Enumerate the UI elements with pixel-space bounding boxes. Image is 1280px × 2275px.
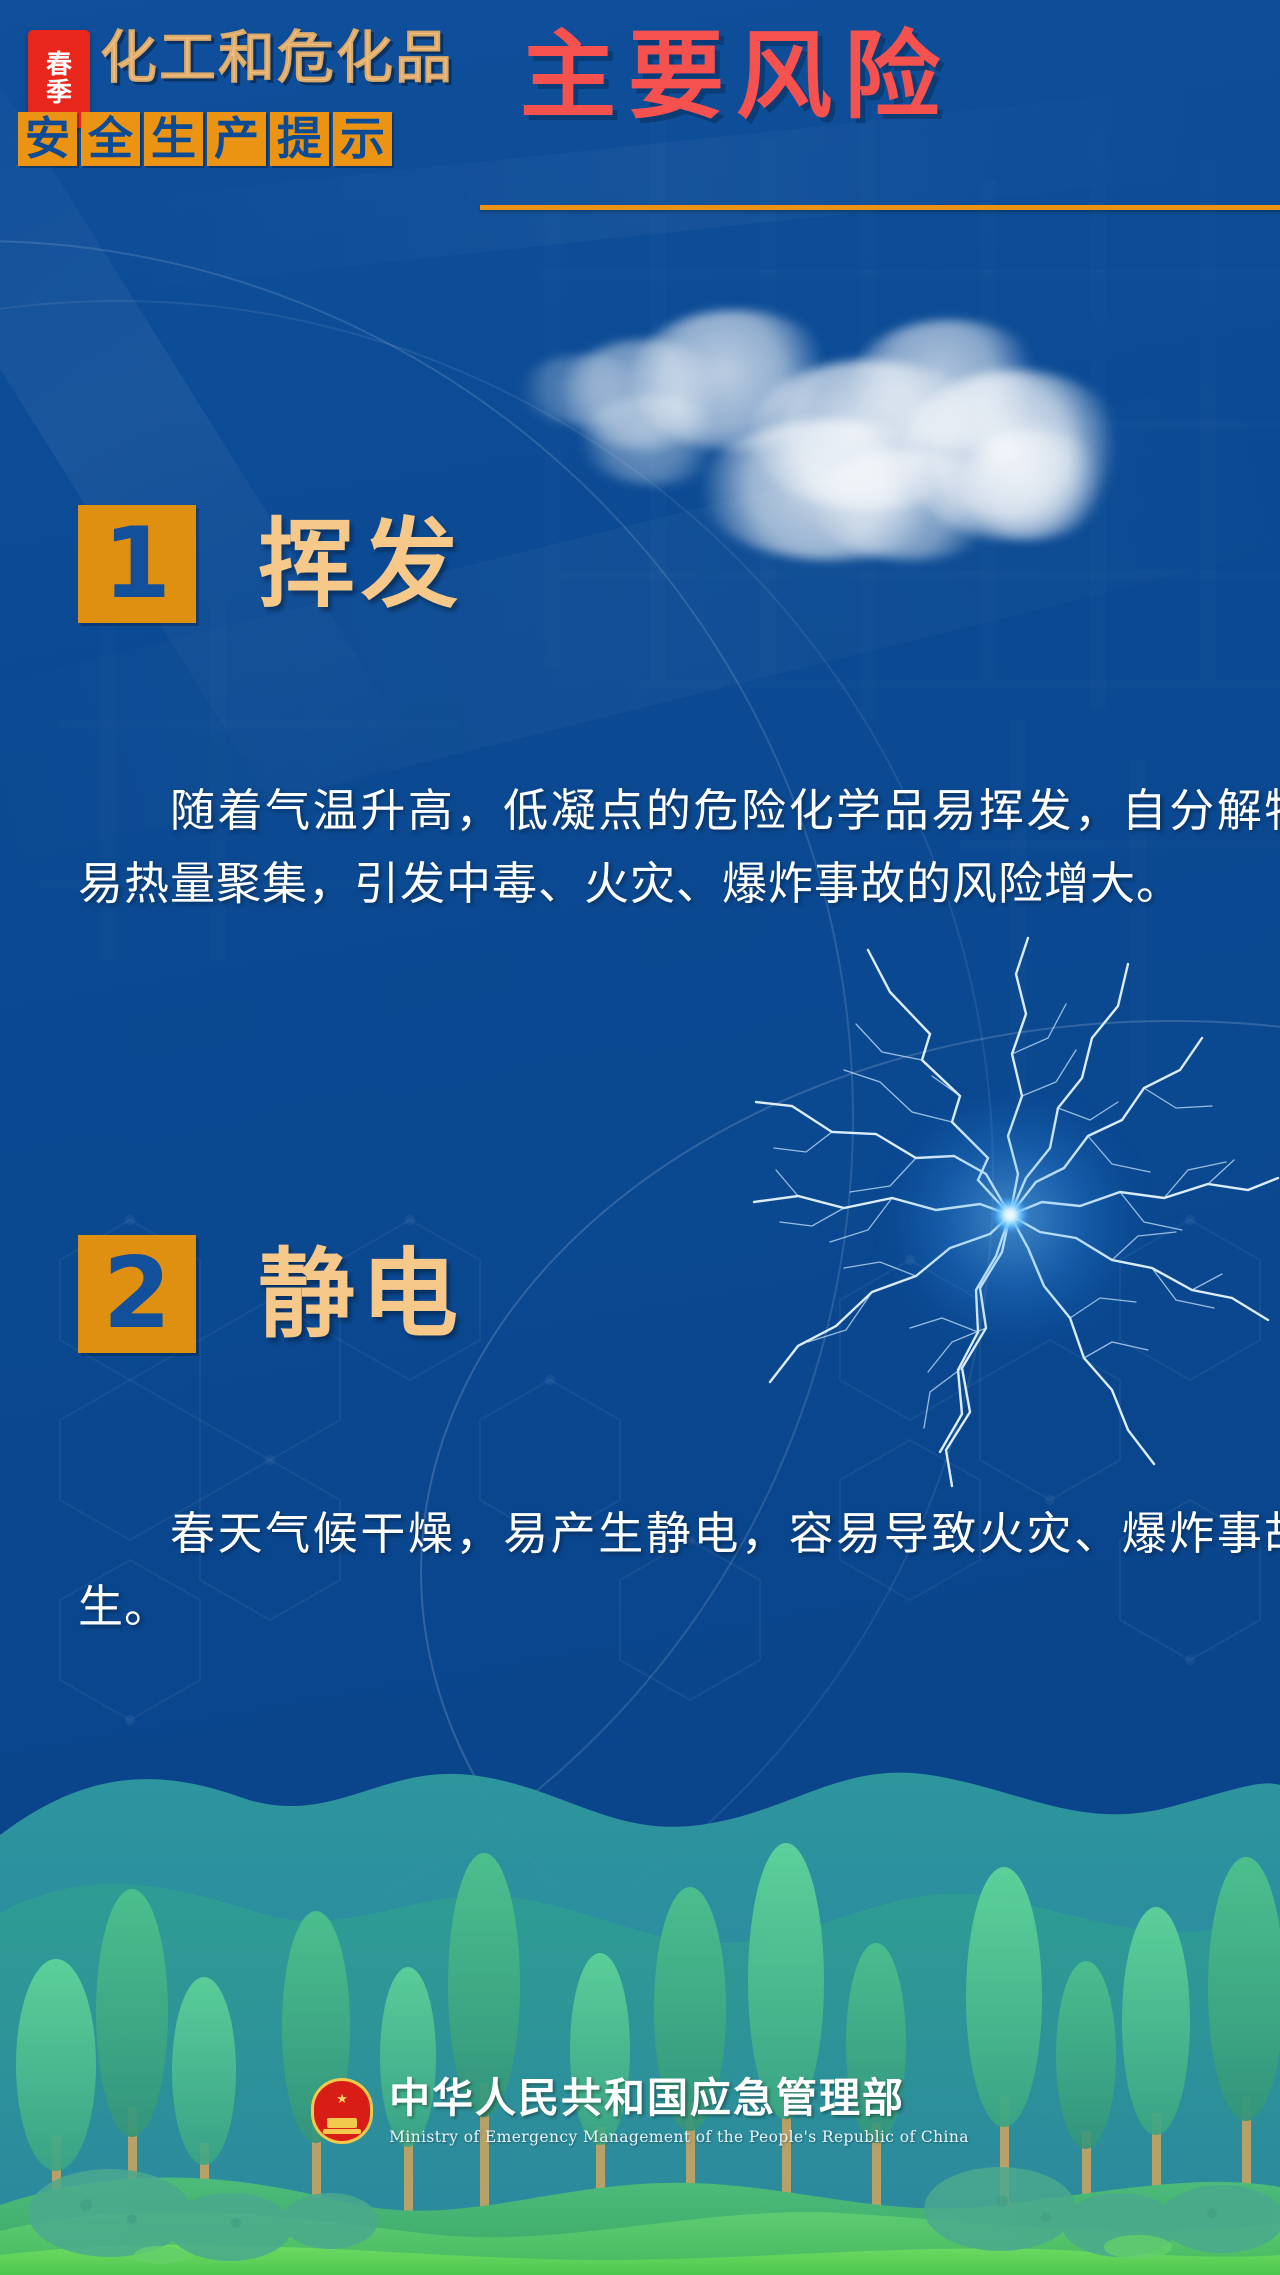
- headline2-char: 生: [144, 112, 203, 166]
- footer-organization: ★ 中华人民共和国应急管理部 Ministry of Emergency Man…: [0, 2076, 1280, 2147]
- headline2-char: 产: [207, 112, 266, 166]
- landscape-illustration: [0, 1735, 1280, 2275]
- section-1-title: 挥发: [258, 516, 464, 613]
- header-divider: [480, 205, 1280, 210]
- page-title: 主要风险: [520, 28, 952, 124]
- decorative-arc: [0, 240, 854, 1994]
- industrial-plant-texture: [0, 120, 1280, 1270]
- section-number: 2: [103, 1245, 171, 1343]
- national-emblem-icon: ★: [311, 2078, 373, 2144]
- risk-section-2: 2 静电: [0, 1235, 1280, 1353]
- headline2-char: 全: [81, 112, 140, 166]
- poster-root: 春 季 化工和危化品 安 全 生 产 提 示 主要风险 1: [0, 0, 1280, 2275]
- headline-line-1: 化工和危化品: [100, 30, 454, 87]
- discharge-core: [993, 1198, 1027, 1232]
- organization-name-en: Ministry of Emergency Management of the …: [389, 2127, 969, 2147]
- poster-header: 春 季 化工和危化品 安 全 生 产 提 示 主要风险: [0, 0, 1280, 240]
- headline2-char: 示: [333, 112, 392, 166]
- section-1-body: 随着气温升高，低凝点的危险化学品易挥发，自分解物质易热量聚集，引发中毒、火灾、爆…: [0, 775, 1280, 921]
- section-2-heading: 2 静电: [0, 1235, 1280, 1353]
- section-2-number-badge: 2: [78, 1235, 196, 1353]
- headline-line-2: 安 全 生 产 提 示: [18, 112, 392, 166]
- electric-discharge-illustration: [740, 930, 1280, 1490]
- headline2-char: 提: [270, 112, 329, 166]
- section-number: 1: [103, 515, 171, 613]
- seal-char-1: 春: [46, 51, 72, 79]
- risk-section-1: 1 挥发: [0, 505, 1280, 623]
- headline2-char: 安: [18, 112, 77, 166]
- seal-char-2: 季: [46, 79, 72, 107]
- section-2-title: 静电: [258, 1246, 464, 1343]
- organization-name-cn: 中华人民共和国应急管理部: [389, 2076, 969, 2122]
- section-2-body: 春天气候干燥，易产生静电，容易导致火灾、爆炸事故发生。: [0, 1498, 1280, 1644]
- section-1-number-badge: 1: [78, 505, 196, 623]
- section-1-heading: 1 挥发: [0, 505, 1280, 623]
